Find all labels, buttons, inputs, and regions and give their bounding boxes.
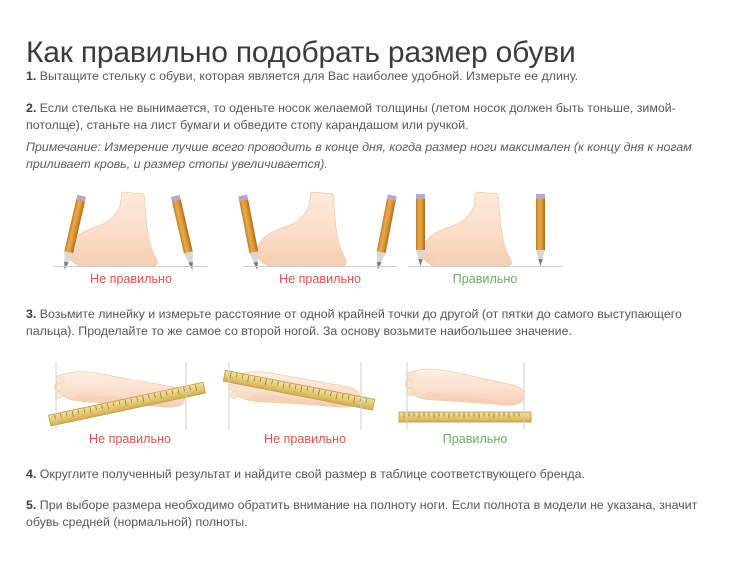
figure-caption: Не правильно xyxy=(235,272,405,287)
foot-shape-icon xyxy=(405,369,524,405)
pencil-icon-right xyxy=(536,194,545,266)
step-3-number: 3. xyxy=(26,307,36,321)
note-paragraph: Примечание: Измерение лучше всего провод… xyxy=(26,139,732,172)
step-5-text: При выборе размера необходимо обратить в… xyxy=(26,498,697,529)
pencil-icon-right xyxy=(373,194,396,270)
pencil-icon-left xyxy=(238,195,261,271)
ruler-icon xyxy=(399,412,531,422)
step-2-number: 2. xyxy=(26,101,36,115)
step-4-paragraph: 4. Округлите полученный результат и найд… xyxy=(26,466,732,483)
step-3-text: Возьмите линейку и измерьте расстояние о… xyxy=(26,307,682,338)
step-5-number: 5. xyxy=(26,498,36,512)
figure-caption: Правильно xyxy=(400,272,570,287)
figure-foot-pencils-tilted-outward: Не правильно xyxy=(235,186,405,278)
step-1-paragraph: 1. Вытащите стельку с обуви, которая явл… xyxy=(26,68,732,85)
figure-foot-ruler-straight: Правильно xyxy=(385,360,565,438)
figure-caption: Не правильно xyxy=(40,432,220,447)
figure-foot-pencils-tilted-inward: Не правильно xyxy=(46,186,216,278)
figure-foot-pencils-vertical: Правильно xyxy=(400,186,570,278)
figure-foot-ruler-diagonal: Не правильно xyxy=(215,360,395,438)
pencil-icon-right xyxy=(171,195,197,271)
shoe-size-guide-page: Как правильно подобрать размер обуви 1. … xyxy=(0,0,750,564)
step-1-text: Вытащите стельку с обуви, которая являет… xyxy=(36,69,578,83)
figure-caption: Не правильно xyxy=(215,432,395,447)
step-2-text: Если стелька не вынимается, то оденьте н… xyxy=(26,101,676,132)
step-4-text: Округлите полученный результат и найдите… xyxy=(36,467,585,481)
foot-shape-icon xyxy=(257,192,346,266)
step-3-paragraph: 3. Возьмите линейку и измерьте расстояни… xyxy=(26,306,732,339)
step-4-number: 4. xyxy=(26,467,36,481)
figure-caption: Не правильно xyxy=(46,272,216,287)
foot-shape-icon xyxy=(422,192,511,266)
figure-caption: Правильно xyxy=(385,432,565,447)
step-2-paragraph: 2. Если стелька не вынимается, то оденьт… xyxy=(26,100,732,133)
page-title: Как правильно подобрать размер обуви xyxy=(26,36,576,70)
figure-foot-ruler-angled: Не правильно xyxy=(40,360,220,438)
step-5-paragraph: 5. При выборе размера необходимо обратит… xyxy=(26,497,732,530)
step-1-number: 1. xyxy=(26,69,36,83)
